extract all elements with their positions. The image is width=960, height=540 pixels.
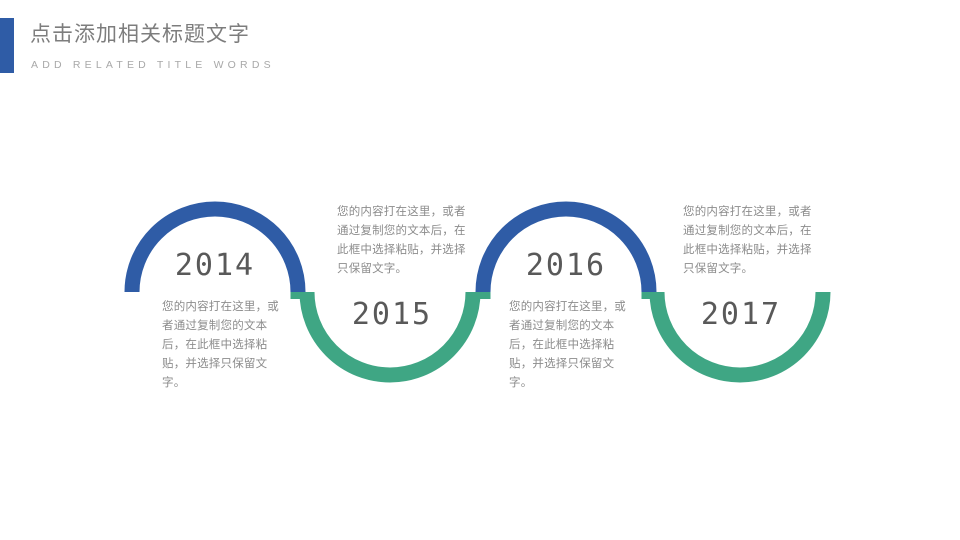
description-2017: 您的内容打在这里，或者通过复制您的文本后，在此框中选择粘贴，并选择只保留文字。 <box>683 203 823 279</box>
year-label-2014: 2014 <box>160 249 270 283</box>
description-2016: 您的内容打在这里，或者通过复制您的文本后，在此框中选择粘贴，并选择只保留文字。 <box>509 298 637 393</box>
description-2014: 您的内容打在这里，或者通过复制您的文本后，在此框中选择粘贴，并选择只保留文字。 <box>162 298 290 393</box>
year-label-2015: 2015 <box>337 298 447 332</box>
page-subtitle: ADD RELATED TITLE WORDS <box>31 58 275 72</box>
slide-header: 点击添加相关标题文字 ADD RELATED TITLE WORDS <box>0 0 960 90</box>
year-label-2016: 2016 <box>511 249 621 283</box>
year-label-2017: 2017 <box>686 298 796 332</box>
header-accent-bar <box>0 18 14 73</box>
page-title: 点击添加相关标题文字 <box>30 22 250 48</box>
description-2015: 您的内容打在这里，或者通过复制您的文本后，在此框中选择粘贴，并选择只保留文字。 <box>337 203 477 279</box>
